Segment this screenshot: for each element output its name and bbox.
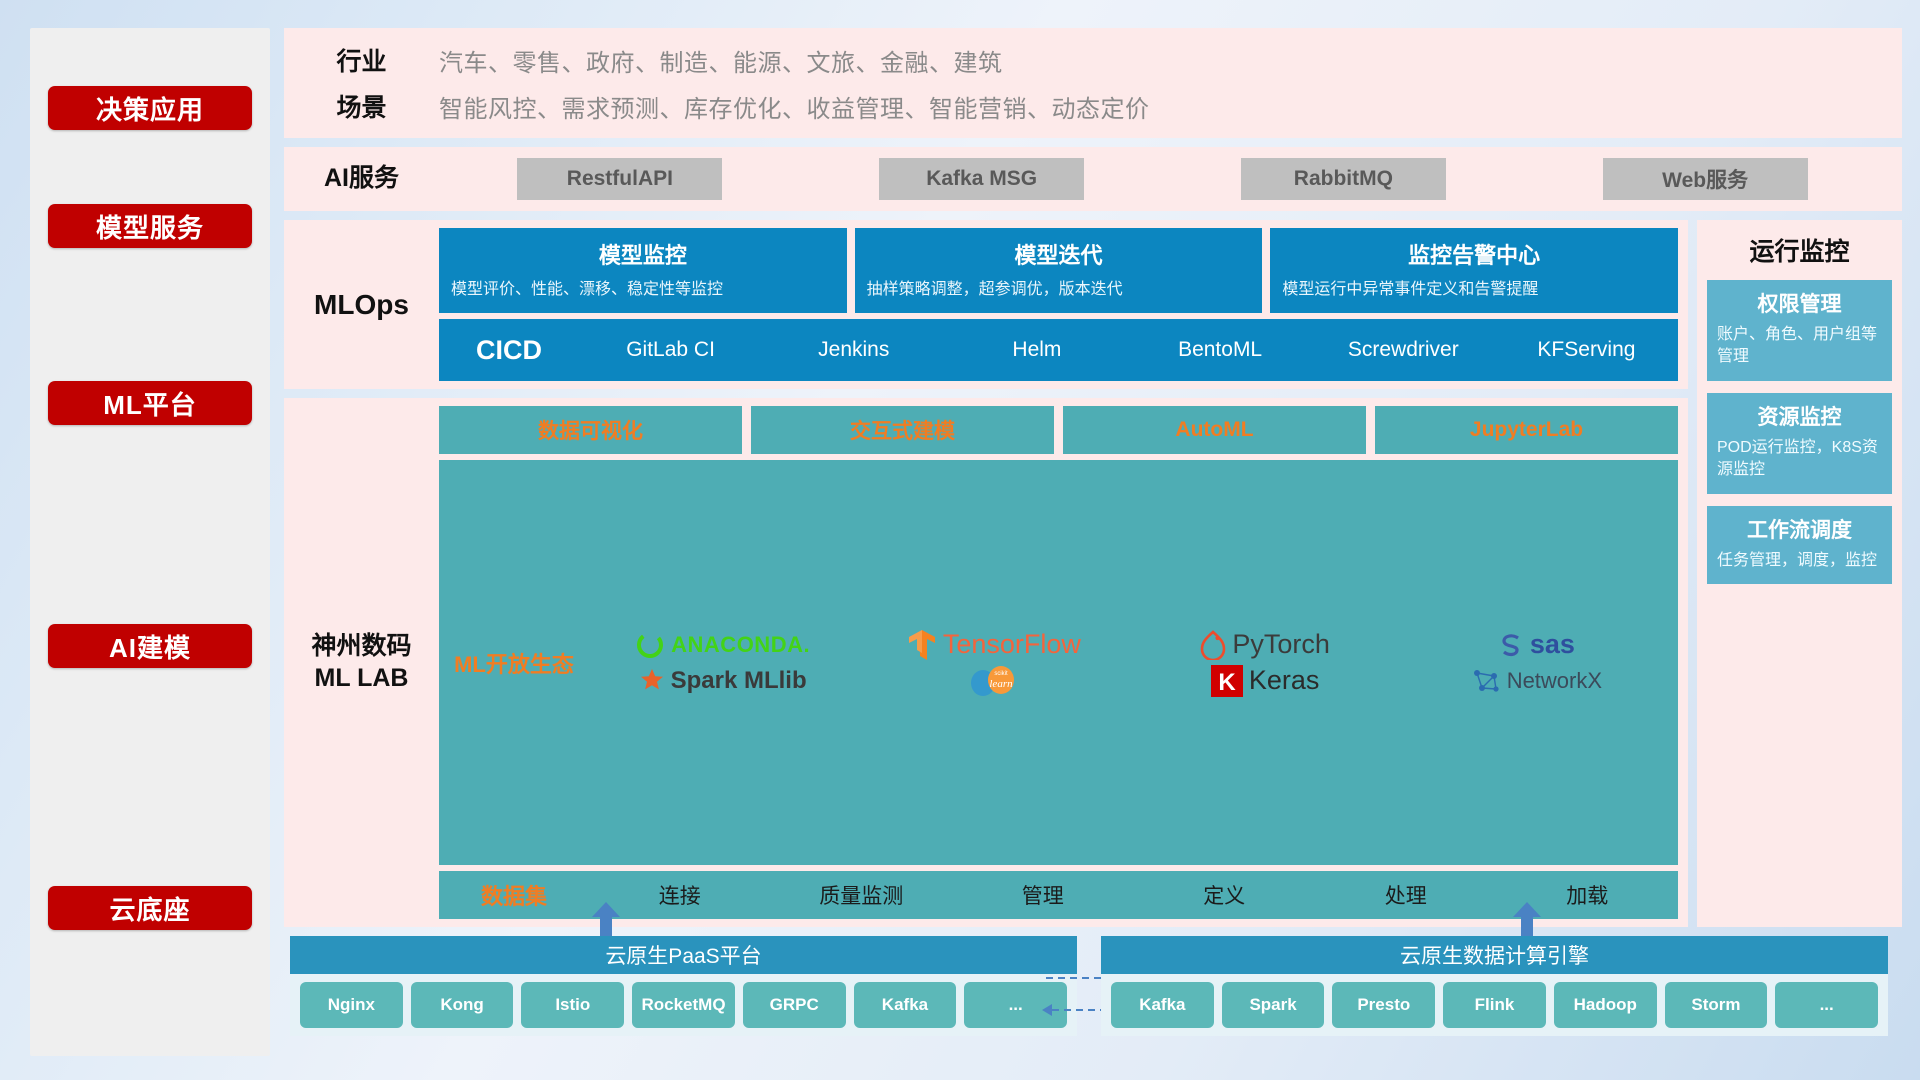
chip-flink[interactable]: Flink [1443,982,1546,1028]
card-title: 权限管理 [1717,288,1882,318]
card-title: 资源监控 [1717,401,1882,431]
card-desc: 任务管理，调度，监控 [1717,550,1882,572]
compute-engine-group: 云原生数据计算引擎 Kafka Spark Presto Flink Hadoo… [1101,936,1888,1036]
chip-istio[interactable]: Istio [521,982,624,1028]
main-column: 行业 汽车、零售、政府、制造、能源、文旅、金融、建筑 场景 智能风控、需求预测、… [284,28,1902,1056]
cicd-row: CICD GitLab CI Jenkins Helm BentoML Scre… [439,319,1678,381]
card-desc: 模型评价、性能、漂移、稳定性等监控 [451,278,835,301]
tool-interactive-modeling[interactable]: 交互式建模 [751,406,1054,454]
anaconda-icon [635,630,665,660]
sidebar-card-resource[interactable]: 资源监控 POD运行监控，K8S资源监控 [1707,393,1892,494]
networkx-logo: NetworkX [1471,667,1602,695]
dataset-item-define[interactable]: 定义 [1134,880,1316,910]
layer-pill-model-service[interactable]: 模型服务 [48,204,252,248]
tensorflow-text: TensorFlow [943,629,1081,660]
ops-monitoring-title: 运行监控 [1749,232,1849,268]
cloud-foundation-band: 云原生PaaS平台 Nginx Kong Istio RocketMQ GRPC… [284,936,1902,1056]
card-title: 模型监控 [451,238,835,270]
chip-spark[interactable]: Spark [1222,982,1325,1028]
dataset-item-process[interactable]: 处理 [1315,880,1497,910]
cicd-item-kfserving[interactable]: KFServing [1495,338,1678,362]
cicd-label: CICD [439,335,579,366]
svg-text:learn: learn [989,678,1013,690]
dataset-label: 数据集 [439,879,589,911]
pytorch-logo: PyTorch [1200,629,1330,660]
platform-section: MLOps 模型监控 模型评价、性能、漂移、稳定性等监控 模型迭代 抽样策略调整… [284,220,1902,927]
scenario-value: 智能风控、需求预测、库存优化、收益管理、智能营销、动态定价 [439,89,1150,124]
chip-kafka-compute[interactable]: Kafka [1111,982,1214,1028]
industry-value: 汽车、零售、政府、制造、能源、文旅、金融、建筑 [439,43,1003,78]
card-desc: 抽样策略调整，超参调优，版本迭代 [867,278,1251,301]
keras-text: Keras [1249,665,1320,696]
sas-logo: sas [1498,629,1575,660]
ml-lab-label-line2: ML LAB [315,664,409,692]
chip-nginx[interactable]: Nginx [300,982,403,1028]
layer-pill-cloud-foundation[interactable]: 云底座 [48,886,252,930]
chip-storm[interactable]: Storm [1665,982,1768,1028]
dataset-item-quality-monitoring[interactable]: 质量监测 [771,880,953,910]
card-desc: POD运行监控，K8S资源监控 [1717,437,1882,482]
mlops-label: MLOps [284,287,439,322]
ml-ecosystem-label: ML开放生态 [439,647,589,679]
chip-kong[interactable]: Kong [411,982,514,1028]
mlops-band: MLOps 模型监控 模型评价、性能、漂移、稳定性等监控 模型迭代 抽样策略调整… [284,220,1688,389]
paas-title: 云原生PaaS平台 [290,936,1077,974]
pytorch-icon [1200,630,1226,660]
sidebar-card-permission[interactable]: 权限管理 账户、角色、用户组等管理 [1707,280,1892,381]
scenario-label: 场景 [284,88,439,124]
ai-modeling-band: 神州数码 ML LAB 数据可视化 交互式建模 AutoML JupyterLa… [284,398,1688,927]
mlops-card-alert-center[interactable]: 监控告警中心 模型运行中异常事件定义和告警提醒 [1270,228,1678,313]
service-box-rabbitmq[interactable]: RabbitMQ [1241,158,1446,200]
ai-service-label: AI服务 [284,163,439,194]
cicd-item-screwdriver[interactable]: Screwdriver [1312,338,1495,362]
ops-monitoring-sidebar: 运行监控 权限管理 账户、角色、用户组等管理 资源监控 POD运行监控，K8S资… [1697,220,1902,927]
cicd-item-bentoml[interactable]: BentoML [1129,338,1312,362]
layer-pill-decision[interactable]: 决策应用 [48,86,252,130]
tool-jupyterlab[interactable]: JupyterLab [1375,406,1678,454]
tool-data-visualization[interactable]: 数据可视化 [439,406,742,454]
card-desc: 模型运行中异常事件定义和告警提醒 [1282,278,1666,301]
anaconda-text: ANACONDA. [671,632,810,658]
architecture-diagram: 决策应用 模型服务 ML平台 AI建模 云底座 行业 汽车、零售、政府、制造、能… [0,0,1920,1080]
pytorch-text: PyTorch [1232,629,1330,660]
spark-mllib-logo: Spark MLlib [639,667,807,695]
networkx-icon [1471,667,1501,695]
industry-row: 行业 汽车、零售、政府、制造、能源、文旅、金融、建筑 [284,42,1902,78]
scenario-row: 场景 智能风控、需求预测、库存优化、收益管理、智能营销、动态定价 [284,88,1902,124]
tool-automl[interactable]: AutoML [1063,406,1366,454]
card-title: 工作流调度 [1717,514,1882,544]
chip-grpc[interactable]: GRPC [743,982,846,1028]
chip-presto[interactable]: Presto [1332,982,1435,1028]
chip-kafka[interactable]: Kafka [854,982,957,1028]
card-desc: 账户、角色、用户组等管理 [1717,324,1882,369]
mlops-card-model-iteration[interactable]: 模型迭代 抽样策略调整，超参调优，版本迭代 [855,228,1263,313]
scikit-learn-logo: scikit learn scikit learn [967,665,1021,697]
mlops-card-model-monitoring[interactable]: 模型监控 模型评价、性能、漂移、稳定性等监控 [439,228,847,313]
keras-logo: K Keras [1211,665,1320,697]
industry-label: 行业 [284,42,439,78]
keras-icon: K [1211,665,1243,697]
chip-rocketmq[interactable]: RocketMQ [632,982,735,1028]
spark-mllib-text: Spark MLlib [671,667,807,695]
paas-group: 云原生PaaS平台 Nginx Kong Istio RocketMQ GRPC… [290,936,1077,1036]
service-box-kafka-msg[interactable]: Kafka MSG [879,158,1084,200]
sas-text: sas [1530,629,1575,660]
layer-rail: 决策应用 模型服务 ML平台 AI建模 云底座 [30,28,270,1056]
scikit-learn-icon: scikit learn [967,665,1021,697]
arrow-up-paas-icon [589,902,623,936]
ai-service-band: AI服务 RestfulAPI Kafka MSG RabbitMQ Web服务 [284,147,1902,211]
layer-pill-ai-modeling[interactable]: AI建模 [48,624,252,668]
chip-hadoop[interactable]: Hadoop [1554,982,1657,1028]
card-title: 模型迭代 [867,238,1251,270]
arrow-up-compute-icon [1510,902,1544,936]
cicd-item-gitlab-ci[interactable]: GitLab CI [579,338,762,362]
sas-icon [1498,632,1524,658]
compute-engine-title: 云原生数据计算引擎 [1101,936,1888,974]
chip-more-compute[interactable]: ... [1775,982,1878,1028]
tensorflow-logo: TensorFlow [907,628,1081,662]
tensorflow-icon [907,628,937,662]
ml-lab-label-line1: 神州数码 [311,632,411,660]
service-box-restfulapi[interactable]: RestfulAPI [517,158,722,200]
service-box-web[interactable]: Web服务 [1603,158,1808,200]
ml-ecosystem-row: ML开放生态 ANACONDA. [439,460,1678,865]
layer-pill-ml-platform[interactable]: ML平台 [48,381,252,425]
dataset-item-manage[interactable]: 管理 [952,880,1134,910]
svg-text:scikit: scikit [994,671,1008,677]
dataset-row: 数据集 连接 质量监测 管理 定义 处理 加载 [439,871,1678,919]
spark-icon [639,669,665,693]
networkx-text: NetworkX [1507,668,1602,694]
anaconda-logo: ANACONDA. [635,630,810,660]
ml-lab-label: 神州数码 ML LAB [284,631,439,694]
decision-application-band: 行业 汽车、零售、政府、制造、能源、文旅、金融、建筑 场景 智能风控、需求预测、… [284,28,1902,138]
card-title: 监控告警中心 [1282,238,1666,270]
cicd-item-helm[interactable]: Helm [945,338,1128,362]
svg-text:K: K [1218,669,1236,696]
cicd-item-jenkins[interactable]: Jenkins [762,338,945,362]
sidebar-card-workflow[interactable]: 工作流调度 任务管理，调度，监控 [1707,506,1892,584]
